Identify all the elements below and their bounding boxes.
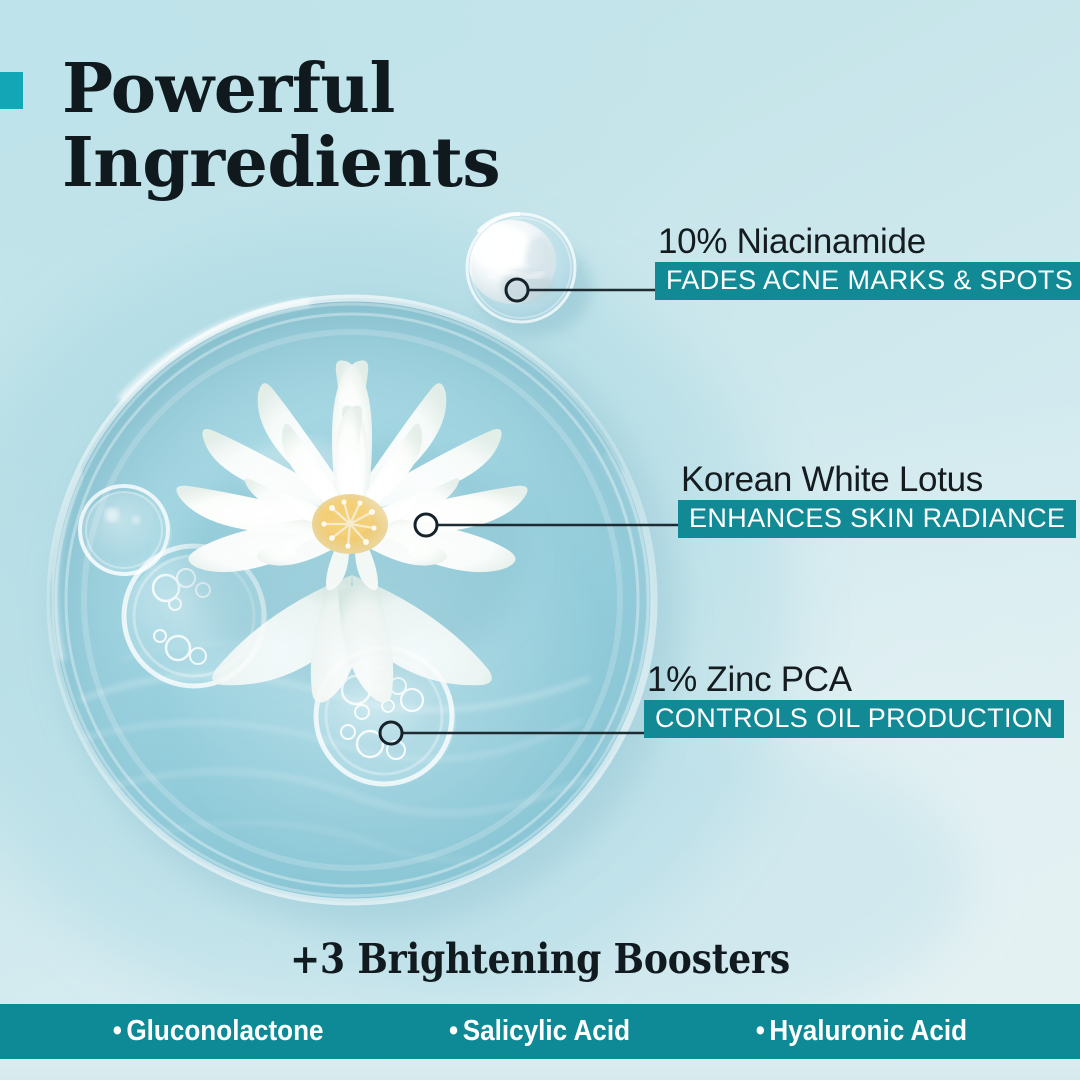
title-accent-square	[0, 72, 23, 109]
callout-zinc-benefit: CONTROLS OIL PRODUCTION	[644, 700, 1064, 738]
bullet-icon: •	[113, 1015, 122, 1047]
booster-label: Gluconolactone	[126, 1015, 323, 1047]
bullet-icon: •	[449, 1015, 458, 1047]
callout-lotus-headline: Korean White Lotus	[681, 460, 1076, 500]
callout-zinc-headline: 1% Zinc PCA	[647, 660, 1064, 700]
booster-item-hyaluronic-acid: •Hyaluronic Acid	[756, 1015, 967, 1048]
boosters-bar: •Gluconolactone •Salicylic Acid •Hyaluro…	[0, 1004, 1080, 1059]
booster-item-salicylic-acid: •Salicylic Acid	[449, 1015, 630, 1048]
page-title: Powerful Ingredients	[62, 52, 682, 200]
boosters-title: +3 Brightening Boosters	[65, 935, 1015, 983]
callout-zinc: 1% Zinc PCA CONTROLS OIL PRODUCTION	[644, 660, 1064, 738]
bottom-strip	[0, 1059, 1080, 1080]
booster-label: Hyaluronic Acid	[770, 1015, 968, 1047]
booster-label: Salicylic Acid	[463, 1015, 630, 1047]
page-title-line1: Powerful	[62, 49, 395, 129]
infographic-canvas: Powerful Ingredients 10% Niacinamide FAD…	[0, 0, 1080, 1080]
callout-lotus-benefit: ENHANCES SKIN RADIANCE	[678, 500, 1076, 538]
glass-ring-small	[80, 486, 172, 576]
callout-niacinamide: 10% Niacinamide FADES ACNE MARKS & SPOTS	[655, 222, 1080, 300]
callout-niacinamide-headline: 10% Niacinamide	[658, 222, 1080, 262]
booster-item-gluconolactone: •Gluconolactone	[113, 1015, 324, 1048]
bullet-icon: •	[756, 1015, 765, 1047]
page-title-line2: Ingredients	[62, 126, 682, 200]
callout-niacinamide-benefit: FADES ACNE MARKS & SPOTS	[655, 262, 1080, 300]
callout-lotus: Korean White Lotus ENHANCES SKIN RADIANC…	[678, 460, 1076, 538]
